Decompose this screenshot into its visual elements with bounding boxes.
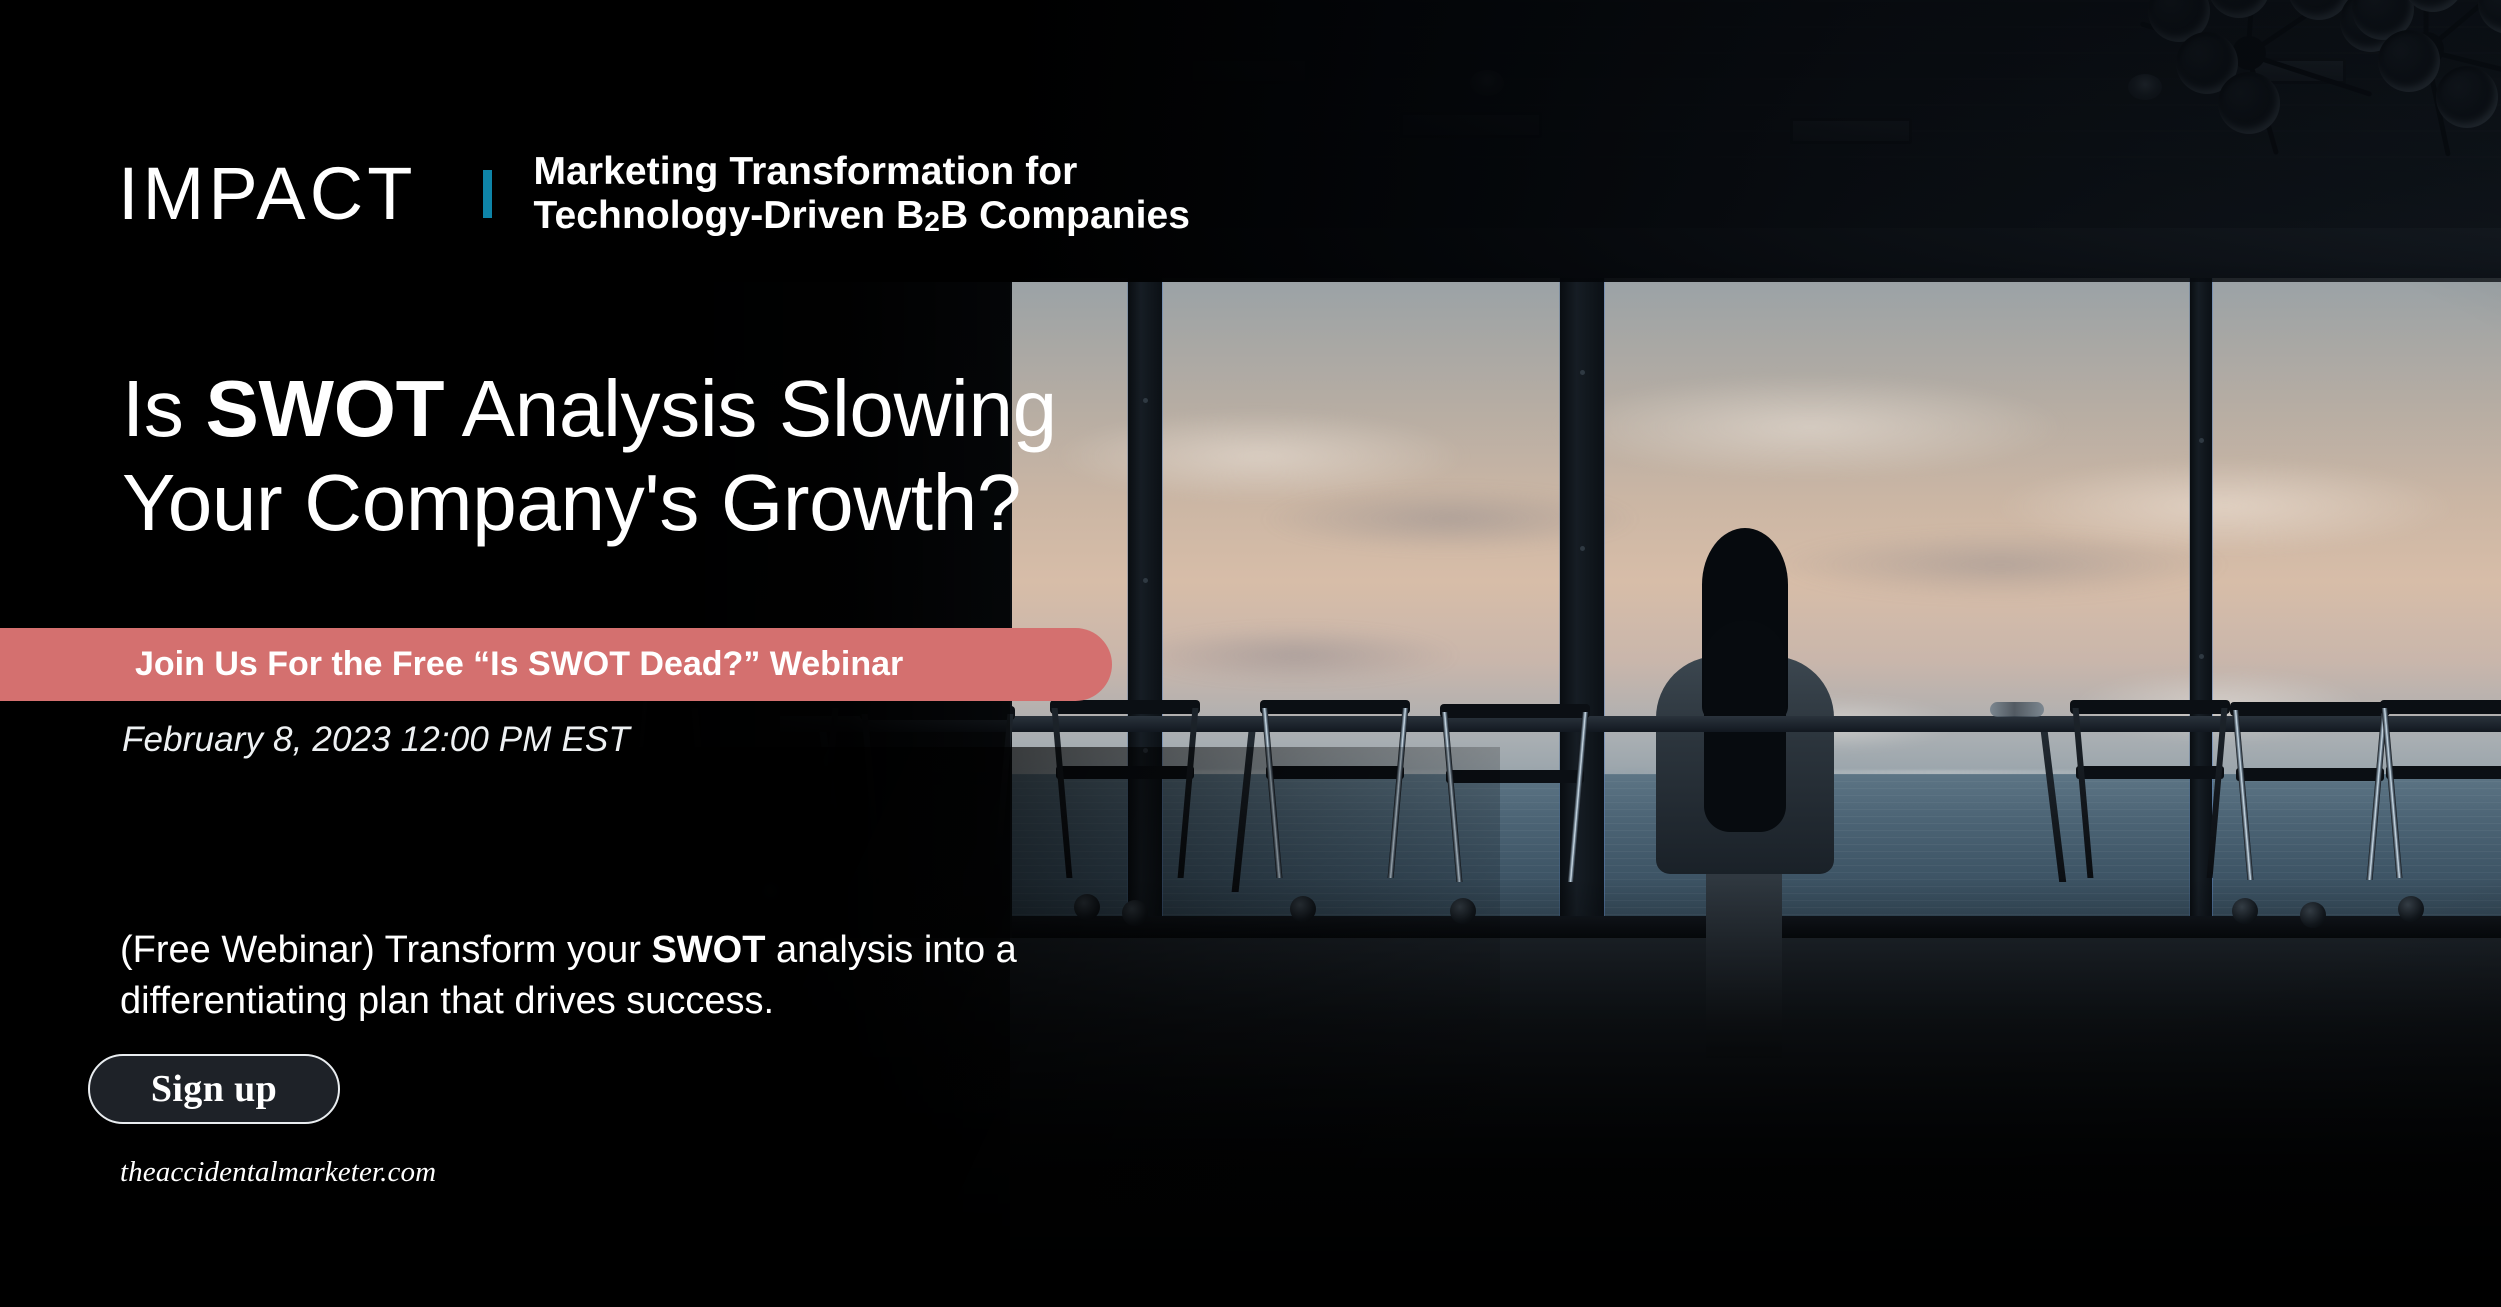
webinar-banner-label: Join Us For the Free “Is SWOT Dead?” Web… (135, 645, 903, 684)
headline-swot-emphasis: SWOT (206, 364, 445, 453)
webinar-promo-banner: IMPACT Marketing Transformation for Tech… (0, 0, 2501, 1307)
desc-line1-pre: (Free Webinar) Transform your (120, 929, 651, 971)
brand-divider (483, 170, 492, 218)
tagline-line-2-post: B Companies (940, 194, 1190, 237)
promo-content: IMPACT Marketing Transformation for Tech… (0, 0, 2501, 1307)
desc-line2: differentiating plan that drives success… (120, 980, 774, 1022)
sign-up-label: Sign up (151, 1067, 277, 1111)
impact-logo: IMPACT (118, 157, 417, 231)
desc-swot-emphasis: SWOT (651, 929, 765, 971)
brand-bar: IMPACT Marketing Transformation for Tech… (118, 150, 1190, 237)
event-datetime: February 8, 2023 12:00 PM EST (122, 720, 630, 760)
brand-tagline: Marketing Transformation for Technology-… (534, 150, 1191, 237)
footer-website-url[interactable]: theaccidentalmarketer.com (120, 1156, 436, 1189)
page-title: Is SWOT Analysis Slowing Your Company's … (122, 362, 1057, 551)
desc-line1-post: analysis into a (765, 929, 1016, 971)
tagline-line-1: Marketing Transformation for (534, 150, 1078, 193)
headline-line2: Your Company's Growth? (122, 458, 1021, 547)
webinar-description: (Free Webinar) Transform your SWOT analy… (120, 925, 1017, 1027)
webinar-banner: Join Us For the Free “Is SWOT Dead?” Web… (0, 628, 1112, 701)
headline-line1-post: Analysis Slowing (444, 364, 1057, 453)
headline-line1-pre: Is (122, 364, 206, 453)
tagline-line-2-pre: Technology-Driven B (534, 194, 925, 237)
tagline-subscript-2: 2 (924, 206, 940, 237)
sign-up-button[interactable]: Sign up (88, 1054, 340, 1124)
